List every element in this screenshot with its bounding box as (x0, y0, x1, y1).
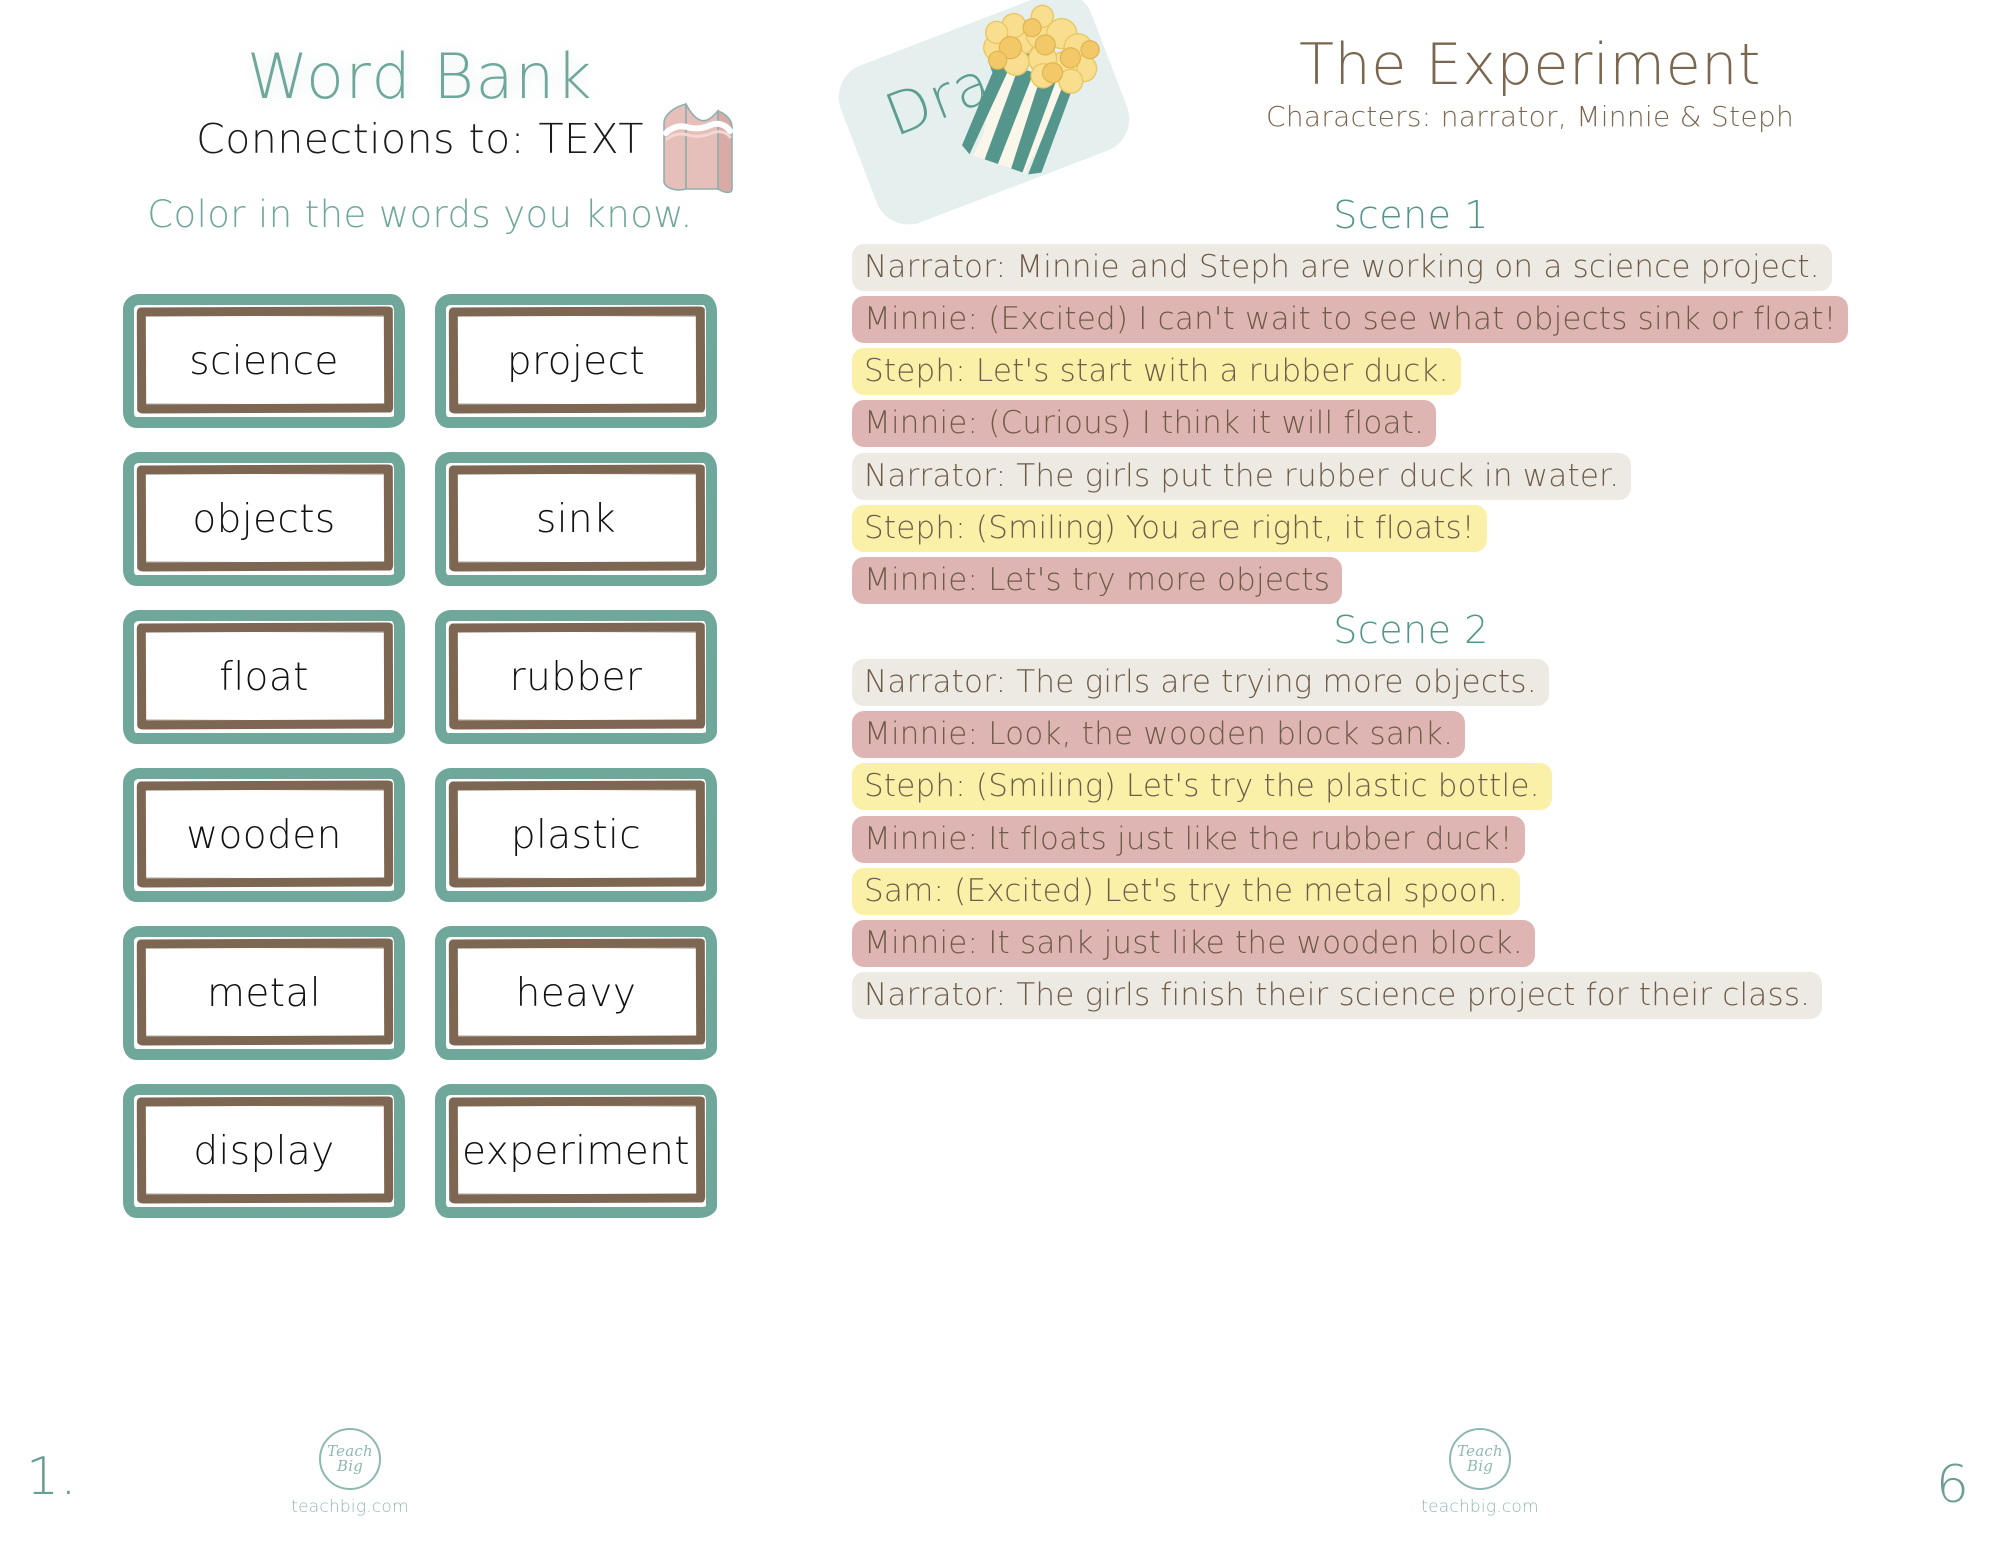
word-label: science (189, 339, 339, 384)
script-body: Scene 1 Narrator: Minnie and Steph are w… (840, 190, 2000, 1022)
word-bank-grid: science project objects sink (123, 294, 717, 1218)
word-box[interactable]: sink (435, 452, 717, 586)
dialogue-line: Minnie: (Excited) I can't wait to see wh… (852, 294, 1982, 344)
word-box[interactable]: metal (123, 926, 405, 1060)
word-label: rubber (510, 655, 643, 700)
dialogue-line: Steph: Let's start with a rubber duck. (852, 346, 1982, 396)
dialogue-text: Minnie: Look, the wooden block sank. (852, 711, 1465, 758)
word-bank-header: Word Bank Connections to: TEXT Color in … (0, 0, 840, 236)
dialogue-text: Minnie: (Excited) I can't wait to see wh… (852, 296, 1848, 343)
word-box[interactable]: rubber (435, 610, 717, 744)
dialogue-line: Narrator: The girls finish their science… (852, 970, 1982, 1020)
subtitle: Connections to: TEXT (196, 115, 644, 163)
dialogue-text: Narrator: The girls are trying more obje… (852, 659, 1549, 706)
logo-url: teachbig.com (1420, 1497, 1540, 1517)
dialogue-line: Minnie: (Curious) I think it will float. (852, 398, 1982, 448)
dialogue-text: Minnie: It floats just like the rubber d… (852, 816, 1525, 863)
dialogue-line: Steph: (Smiling) You are right, it float… (852, 503, 1982, 553)
dialogue-text: Steph: Let's start with a rubber duck. (852, 348, 1461, 395)
word-box[interactable]: wooden (123, 768, 405, 902)
scene-heading: Scene 2 (840, 609, 1982, 653)
word-label: heavy (516, 971, 637, 1016)
dialogue-text: Narrator: Minnie and Steph are working o… (852, 244, 1832, 291)
dialogue-text: Minnie: It sank just like the wooden blo… (852, 920, 1535, 967)
instruction-text: Color in the words you know. (0, 193, 840, 236)
dialogue-text: Sam: (Excited) Let's try the metal spoon… (852, 868, 1520, 915)
word-box[interactable]: project (435, 294, 717, 428)
worksheet-page: Word Bank Connections to: TEXT Color in … (0, 0, 2000, 1545)
dialogue-text: Narrator: The girls finish their science… (852, 972, 1822, 1019)
page-number-right: 6 (1936, 1455, 1970, 1515)
word-label: plastic (511, 813, 641, 858)
logo-circle-icon: Teach Big (1449, 1428, 1511, 1490)
dialogue-line: Minnie: It floats just like the rubber d… (852, 814, 1982, 864)
word-box[interactable]: heavy (435, 926, 717, 1060)
dialogue-line: Minnie: Let's try more objects (852, 555, 1982, 605)
logo-mark: Teach Big (1451, 1444, 1509, 1474)
dialogue-line: Minnie: Look, the wooden block sank. (852, 709, 1982, 759)
brand-logo-right: Teach Big teachbig.com (1420, 1428, 1540, 1517)
script-title: The Experiment (1070, 36, 1990, 96)
scene-heading: Scene 1 (840, 194, 1982, 238)
dialogue-line: Steph: (Smiling) Let's try the plastic b… (852, 761, 1982, 811)
logo-url: teachbig.com (290, 1497, 410, 1517)
dialogue-line: Narrator: Minnie and Steph are working o… (852, 242, 1982, 292)
word-label: wooden (186, 813, 342, 858)
word-label: experiment (462, 1129, 690, 1174)
subtitle-row: Connections to: TEXT (196, 115, 644, 163)
dialogue-line: Minnie: It sank just like the wooden blo… (852, 918, 1982, 968)
dialogue-line: Narrator: The girls put the rubber duck … (852, 451, 1982, 501)
scene-2-lines: Narrator: The girls are trying more obje… (840, 657, 1982, 1021)
word-box[interactable]: science (123, 294, 405, 428)
brand-logo-left: Teach Big teachbig.com (290, 1428, 410, 1517)
dialogue-line: Narrator: The girls are trying more obje… (852, 657, 1982, 707)
book-icon (656, 93, 740, 197)
scene-1-lines: Narrator: Minnie and Steph are working o… (840, 242, 1982, 606)
script-characters: Characters: narrator, Minnie & Steph (1070, 100, 1990, 133)
word-label: float (219, 655, 309, 700)
dialogue-line: Sam: (Excited) Let's try the metal spoon… (852, 866, 1982, 916)
word-bank-page: Word Bank Connections to: TEXT Color in … (0, 0, 840, 1545)
dialogue-text: Minnie: Let's try more objects (852, 557, 1342, 604)
dialogue-text: Minnie: (Curious) I think it will float. (852, 400, 1436, 447)
word-box[interactable]: float (123, 610, 405, 744)
word-label: project (507, 339, 645, 384)
word-box[interactable]: plastic (435, 768, 717, 902)
script-header: The Experiment Characters: narrator, Min… (1070, 36, 1990, 133)
logo-mark: Teach Big (321, 1444, 379, 1474)
word-label: metal (207, 971, 321, 1016)
logo-circle-icon: Teach Big (319, 1428, 381, 1490)
page-number-left: 1. (26, 1447, 78, 1507)
word-box[interactable]: display (123, 1084, 405, 1218)
word-label: display (193, 1129, 334, 1174)
dialogue-text: Narrator: The girls put the rubber duck … (852, 453, 1631, 500)
dialogue-text: Steph: (Smiling) You are right, it float… (852, 505, 1487, 552)
drama-script-page: Drama (840, 0, 2000, 1545)
word-label: objects (192, 497, 335, 542)
dialogue-text: Steph: (Smiling) Let's try the plastic b… (852, 763, 1552, 810)
word-box[interactable]: objects (123, 452, 405, 586)
word-label: sink (536, 497, 616, 542)
word-box[interactable]: experiment (435, 1084, 717, 1218)
